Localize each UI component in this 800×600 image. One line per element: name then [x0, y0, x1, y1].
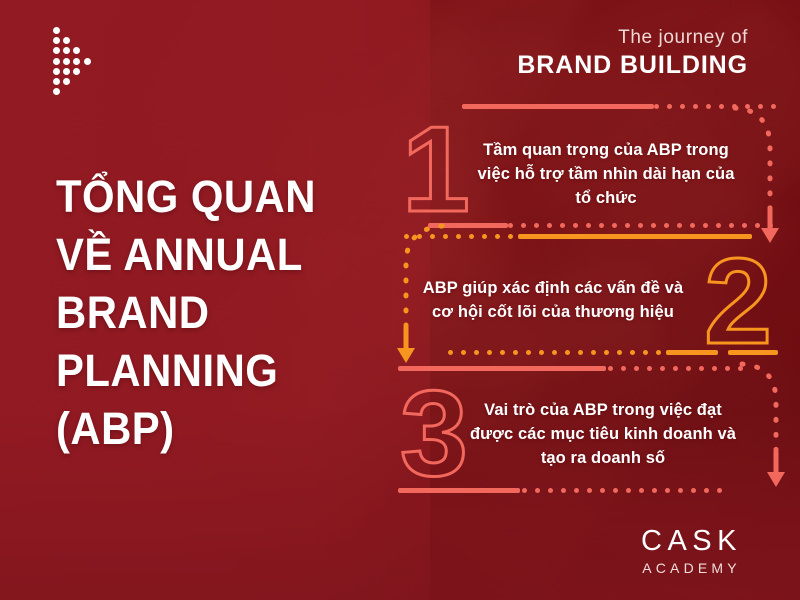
infographic-poster: The journey of BRAND BUILDING TỔNG QUAN … [0, 0, 800, 600]
step-number-3: 3 [400, 372, 468, 494]
step-1-top-rule [462, 104, 778, 109]
cask-academy-logo: CASK ACADEMY [641, 524, 742, 578]
header-line-2: BRAND BUILDING [517, 50, 748, 80]
step-text-1: Tầm quan trọng của ABP trong việc hỗ trợ… [474, 138, 738, 210]
step-number-2: 2 [704, 240, 772, 362]
step-1-bottom-rule [428, 223, 778, 228]
step-number-1: 1 [402, 108, 470, 230]
steps-container: 1 Tầm quan trọng của ABP trong việc hỗ t… [398, 104, 778, 504]
step-item-1: 1 Tầm quan trọng của ABP trong việc hỗ t… [398, 104, 778, 228]
header-tagline: The journey of BRAND BUILDING [517, 26, 748, 80]
step-3-top-rule [398, 366, 758, 371]
header-line-1: The journey of [517, 26, 748, 50]
dot-triangle-logo-icon [53, 27, 119, 89]
cask-wordmark: CASK [641, 524, 742, 558]
step-text-2: ABP giúp xác định các vấn đề và cơ hội c… [420, 276, 686, 324]
step-2-bottom-rule [448, 350, 778, 355]
academy-wordmark: ACADEMY [641, 558, 742, 578]
step-item-3: 3 Vai trò của ABP trong việc đạt được cá… [398, 366, 778, 494]
step-text-3: Vai trò của ABP trong việc đạt được các … [468, 398, 738, 470]
step-item-2: 2 ABP giúp xác định các vấn đề và cơ hội… [398, 234, 778, 360]
step-2-top-rule [404, 234, 752, 239]
page-title: TỔNG QUAN VỀ ANNUAL BRAND PLANNING (ABP) [56, 168, 363, 458]
step-3-bottom-rule [398, 488, 758, 493]
